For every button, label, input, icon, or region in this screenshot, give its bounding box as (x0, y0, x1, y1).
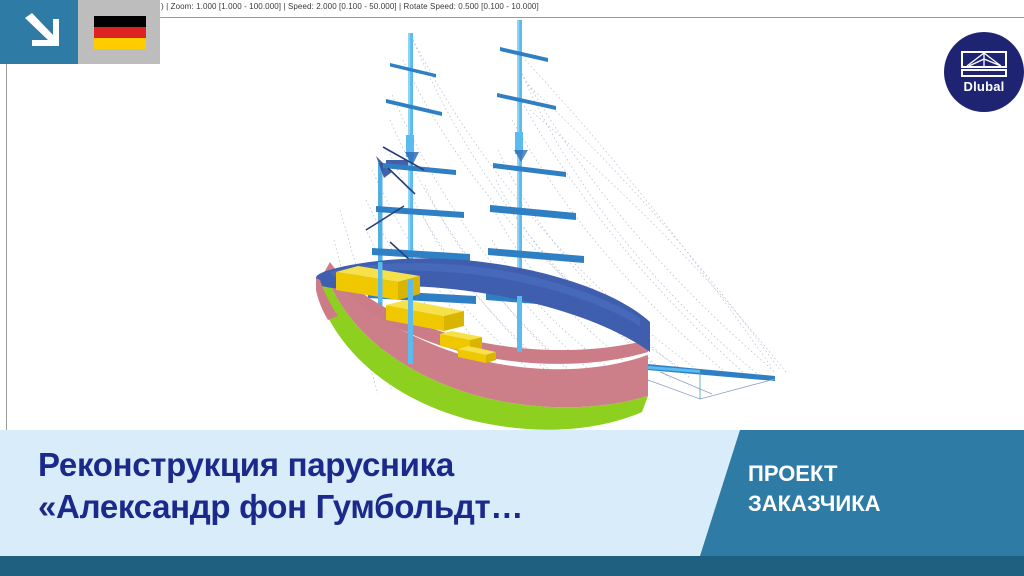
bottom-strip (0, 556, 1024, 576)
page-title: Реконструкция парусника «Александр фон Г… (38, 444, 698, 528)
truss-frame-icon (961, 51, 1007, 77)
flag-badge (78, 0, 160, 64)
arrow-down-right-badge[interactable] (0, 0, 78, 64)
arrow-down-right-icon (19, 13, 59, 51)
flag-band-gold (94, 38, 146, 49)
german-flag-icon (94, 16, 146, 49)
dlubal-wordmark: Dlubal (964, 80, 1005, 93)
flag-band-red (94, 27, 146, 38)
sailing-ship-3d-model[interactable] (0, 0, 1024, 432)
dlubal-logo[interactable]: Dlubal (944, 32, 1024, 112)
flag-band-black (94, 16, 146, 27)
model-viewport[interactable]: ) | Zoom: 1.000 [1.000 - 100.000] | Spee… (0, 0, 1024, 432)
project-tag-label: ПРОЕКТ ЗАКАЗЧИКА (748, 459, 1008, 518)
slide-root: ) | Zoom: 1.000 [1.000 - 100.000] | Spee… (0, 0, 1024, 576)
status-bar-text: ) | Zoom: 1.000 [1.000 - 100.000] | Spee… (161, 2, 539, 11)
